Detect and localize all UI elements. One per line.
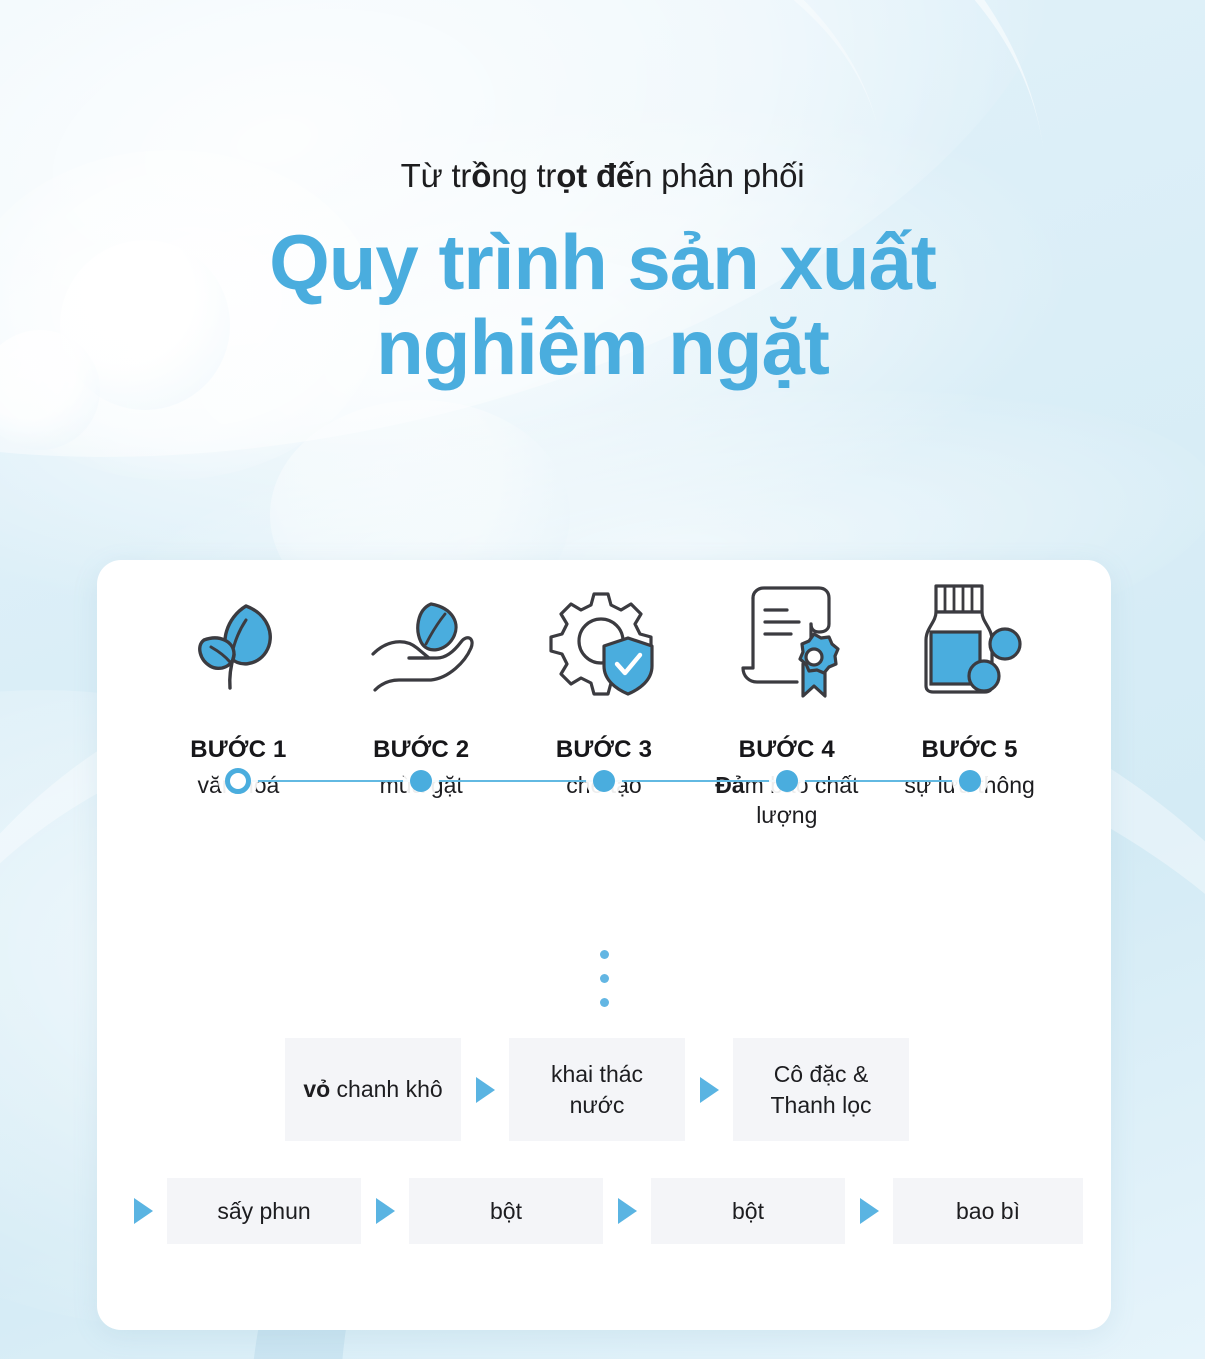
triangle-right-icon-3 <box>119 1198 167 1224</box>
vertical-dots-indicator <box>97 950 1111 1007</box>
supplement-bottle-icon <box>878 560 1061 700</box>
triangle-right-icon-4 <box>361 1198 409 1224</box>
flow-row-1: vỏ chanh khô khai thác nước Cô đặc & Tha… <box>285 1038 909 1141</box>
flow-box-1-bold: vỏ <box>303 1076 330 1102</box>
flow-box-6-label: bột <box>732 1196 764 1227</box>
eyebrow-part-5: n phân phối <box>634 157 804 194</box>
sprout-leaves-icon <box>147 560 330 700</box>
flow-box-bot-1[interactable]: bột <box>409 1178 603 1244</box>
timeline-step-4[interactable] <box>695 560 878 700</box>
gear-shield-check-icon <box>513 560 696 700</box>
eyebrow-part-2: ồ <box>471 157 491 194</box>
eyebrow-part-4: ọt đế <box>556 157 634 194</box>
flow-box-say-phun[interactable]: sấy phun <box>167 1178 361 1244</box>
timeline-icons-row <box>97 560 1111 700</box>
step-title-5: BƯỚC 5 <box>882 736 1057 764</box>
page-title-line-1: Quy trình sản xuất <box>0 220 1205 304</box>
step-title-3: BƯỚC 3 <box>517 736 692 764</box>
flow-box-4-label: sấy phun <box>217 1196 310 1227</box>
triangle-right-icon-6 <box>845 1198 893 1224</box>
flow-box-khai-thac-nuoc[interactable]: khai thác nước <box>509 1038 685 1141</box>
timeline: BƯỚC 1 văn hoá BƯỚC 2 mùa gặt BƯỚC 3 chế… <box>97 560 1111 831</box>
timeline-nodes <box>147 779 1061 794</box>
flow-box-2-label: khai thác nước <box>523 1059 671 1121</box>
eyebrow-text: Từ trồng trọt đến phân phối <box>0 158 1205 194</box>
vertical-dot-1 <box>600 950 609 959</box>
flow-box-vo-chanh-kho[interactable]: vỏ chanh khô <box>285 1038 461 1141</box>
flow-box-5-label: bột <box>490 1196 522 1227</box>
header: Từ trồng trọt đến phân phối Quy trình sả… <box>0 0 1205 389</box>
process-card: BƯỚC 1 văn hoá BƯỚC 2 mùa gặt BƯỚC 3 chế… <box>97 560 1111 1330</box>
triangle-right-icon-5 <box>603 1198 651 1224</box>
timeline-node-4[interactable] <box>776 770 798 792</box>
timeline-step-3[interactable] <box>513 560 696 700</box>
page-title: Quy trình sản xuất nghiêm ngặt <box>0 220 1205 388</box>
step-title-1: BƯỚC 1 <box>151 736 326 764</box>
eyebrow-part-3: ng tr <box>491 157 556 194</box>
step-title-2: BƯỚC 2 <box>334 736 509 764</box>
certificate-award-icon <box>695 560 878 700</box>
timeline-node-3[interactable] <box>593 770 615 792</box>
timeline-node-1[interactable] <box>225 768 251 794</box>
timeline-step-2[interactable] <box>330 560 513 700</box>
vertical-dot-3 <box>600 998 609 1007</box>
hand-holding-leaf-icon <box>330 560 513 700</box>
eyebrow-part-1: Từ tr <box>401 157 472 194</box>
vertical-dot-2 <box>600 974 609 983</box>
page-title-line-2: nghiêm ngặt <box>0 305 1205 389</box>
timeline-node-2[interactable] <box>410 770 432 792</box>
flow-box-7-label: bao bì <box>956 1196 1020 1227</box>
flow-box-bao-bi[interactable]: bao bì <box>893 1178 1083 1244</box>
timeline-step-1[interactable] <box>147 560 330 700</box>
flow-box-1-rest: chanh khô <box>330 1076 443 1102</box>
triangle-right-icon-2 <box>685 1077 733 1103</box>
flow-row-2: sấy phun bột bột bao bì <box>119 1178 1083 1244</box>
flow-box-3-label: Cô đặc & Thanh lọc <box>747 1059 895 1121</box>
flow-box-co-dac-thanh-loc[interactable]: Cô đặc & Thanh lọc <box>733 1038 909 1141</box>
step-title-4: BƯỚC 4 <box>699 736 874 764</box>
timeline-step-5[interactable] <box>878 560 1061 700</box>
flow-box-bot-2[interactable]: bột <box>651 1178 845 1244</box>
timeline-rail <box>147 779 1061 783</box>
timeline-node-5[interactable] <box>959 770 981 792</box>
triangle-right-icon-1 <box>461 1077 509 1103</box>
